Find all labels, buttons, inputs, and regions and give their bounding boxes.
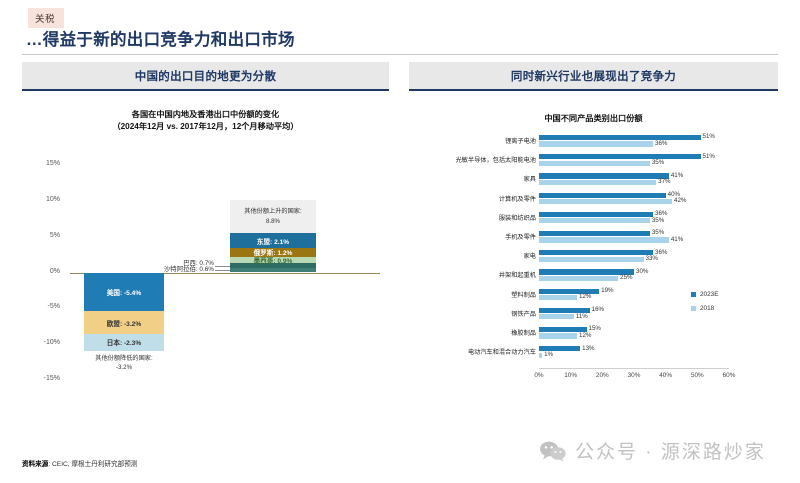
y-axis-tick-label: 15% [26, 160, 60, 167]
panel-left-title: 中国的出口目的地更为分散 [22, 62, 389, 89]
bar-segment [539, 199, 672, 204]
watermark-text: 公众号 · 源深路炒家 [575, 437, 766, 464]
bar-value-label: 41% [671, 236, 683, 243]
bar-value-label: 35% [652, 159, 664, 166]
bar-segment [539, 212, 653, 217]
bar-category-label: 计算机及零件 [409, 194, 536, 203]
panel-left: 中国的出口目的地更为分散 各国在中国内地及香港出口中份额的变化 （2024年12… [22, 62, 389, 414]
bar-value-label: 25% [620, 274, 632, 281]
callout-leader-line [215, 266, 230, 267]
source-note: 资料来源: CEIC, 摩根士丹利研究部预测 [22, 458, 137, 468]
bar-category-label: 光敏半导体，包括太阳能电池 [409, 155, 536, 164]
bar-value-label: 35% [652, 229, 664, 236]
waterfall-gain-segment [230, 268, 316, 272]
x-axis-tick-label: 20% [589, 372, 615, 379]
bar-segment [539, 295, 577, 300]
other-losers-note: 其他份额降低的国家:-3.2% [72, 354, 176, 373]
bar-segment [539, 173, 669, 178]
kicker-badge: 关税 [28, 8, 64, 28]
bar-value-label: 12% [579, 293, 591, 300]
waterfall-gain-segment: 墨西哥: 0.9% [230, 257, 316, 263]
bar-category-label: 家电 [409, 251, 536, 260]
bar-category-label: 锂离子电池 [409, 136, 536, 145]
bar-category-label: 服装和纺织品 [409, 213, 536, 222]
bar-category-label: 家具 [409, 174, 536, 183]
bar-value-label: 37% [658, 178, 670, 185]
x-axis-tick-label: 40% [653, 372, 679, 379]
y-axis-tick-label: 5% [26, 232, 60, 239]
panel-right-title: 同时新兴行业也展现出了竞争力 [409, 62, 778, 89]
bar-segment [539, 276, 618, 281]
bar-segment [539, 161, 650, 166]
legend-item[interactable]: 2018 [691, 305, 718, 312]
waterfall-gain-segment: 东盟: 2.1% [230, 233, 316, 248]
bar-category-label: 井架和起重机 [409, 270, 536, 279]
bar-segment [539, 231, 650, 236]
x-axis-tick-label: 30% [621, 372, 647, 379]
x-axis-tick-label: 50% [684, 372, 710, 379]
bar-segment [539, 237, 669, 242]
bar-segment [539, 333, 577, 338]
y-axis-tick-label: -5% [26, 303, 60, 310]
bar-value-label: 11% [576, 313, 588, 320]
bar-category-label: 手机及零件 [409, 232, 536, 241]
bar-value-label: 36% [655, 140, 667, 147]
source-text: : CEIC, 摩根士丹利研究部预测 [48, 461, 137, 468]
chart-legend: 2023E2018 [691, 291, 718, 319]
other-gainers-label: 其他份额上升的国家: [244, 208, 301, 215]
wechat-icon [540, 441, 566, 461]
bar-value-label: 1% [544, 351, 553, 358]
bar-value-label: 13% [582, 345, 594, 352]
bar-category-label: 电动汽车和混合动力汽车 [409, 347, 536, 356]
y-axis-tick-label: -15% [26, 375, 60, 382]
panel-left-body: 各国在中国内地及香港出口中份额的变化 （2024年12月 vs. 2017年12… [22, 91, 389, 414]
watermark: 公众号 · 源深路炒家 [540, 437, 766, 464]
bar-value-label: 35% [652, 217, 664, 224]
x-axis-tick-label: 10% [558, 372, 584, 379]
other-gainers-value: 8.8% [266, 218, 280, 225]
waterfall-callout-label: 巴西: 0.7% [102, 258, 214, 267]
bar-segment [539, 218, 650, 223]
callout-leader-line [215, 270, 230, 271]
panel-right: 同时新兴行业也展现出了竞争力 中国不同产品类别出口份额 锂离子电池51%36%光… [409, 62, 778, 414]
source-label: 资料来源 [22, 461, 48, 468]
bar-value-label: 30% [636, 268, 648, 275]
other-losers-label: 其他份额降低的国家: [95, 355, 152, 362]
slide-canvas: 关税 …得益于新的出口竞争力和出口市场 中国的出口目的地更为分散 各国在中国内地… [0, 0, 800, 483]
header-divider [22, 54, 778, 55]
bar-value-label: 51% [703, 133, 715, 140]
bar-category-label: 钢铁产品 [409, 309, 536, 318]
bar-segment [539, 353, 542, 358]
other-gainers-note: 其他份额上升的国家:8.8% [230, 200, 316, 233]
bar-category-label: 塑料制品 [409, 290, 536, 299]
waterfall-chart-plot: 15%10%5%0%-5%-10%-15%其他份额上升的国家:8.8%沙特阿拉伯… [22, 91, 389, 414]
bar-value-label: 41% [671, 172, 683, 179]
y-axis-tick-label: 10% [26, 196, 60, 203]
bar-value-label: 42% [674, 197, 686, 204]
legend-item[interactable]: 2023E [691, 291, 718, 298]
waterfall-loss-segment: 日本: -2.3% [84, 334, 164, 350]
bar-segment [539, 154, 701, 159]
legend-swatch [691, 292, 696, 297]
page-title: …得益于新的出口竞争力和出口市场 [26, 26, 295, 50]
y-axis-tick-label: -10% [26, 339, 60, 346]
bar-value-label: 19% [601, 287, 613, 294]
waterfall-loss-segment: 欧盟: -3.2% [84, 311, 164, 334]
bar-segment [539, 135, 701, 140]
panel-right-body: 中国不同产品类别出口份额 锂离子电池51%36%光敏半导体，包括太阳能电池51%… [409, 91, 778, 414]
bar-category-label: 橡胶制品 [409, 328, 536, 337]
x-axis-tick-label: 60% [716, 372, 742, 379]
y-axis-tick-label: 0% [26, 268, 60, 275]
bar-value-label: 12% [579, 332, 591, 339]
waterfall-loss-segment: 美国: -5.4% [84, 273, 164, 312]
bar-segment [539, 193, 666, 198]
bar-segment [539, 257, 644, 262]
legend-label: 2018 [700, 305, 714, 312]
other-losers-value: -3.2% [116, 364, 132, 371]
bar-value-label: 16% [592, 306, 604, 313]
legend-swatch [691, 306, 696, 311]
x-axis-line [539, 368, 729, 369]
x-axis-tick-label: 0% [526, 372, 552, 379]
waterfall-gain-segment: 俄罗斯: 1.2% [230, 248, 316, 257]
barchart-plot: 锂离子电池51%36%光敏半导体，包括太阳能电池51%35%家具41%37%计算… [409, 91, 778, 414]
bar-segment [539, 314, 574, 319]
bar-segment [539, 141, 653, 146]
bar-value-label: 51% [703, 153, 715, 160]
bar-value-label: 33% [646, 255, 658, 262]
bar-segment [539, 250, 653, 255]
legend-label: 2023E [700, 291, 718, 298]
bar-segment [539, 180, 656, 185]
